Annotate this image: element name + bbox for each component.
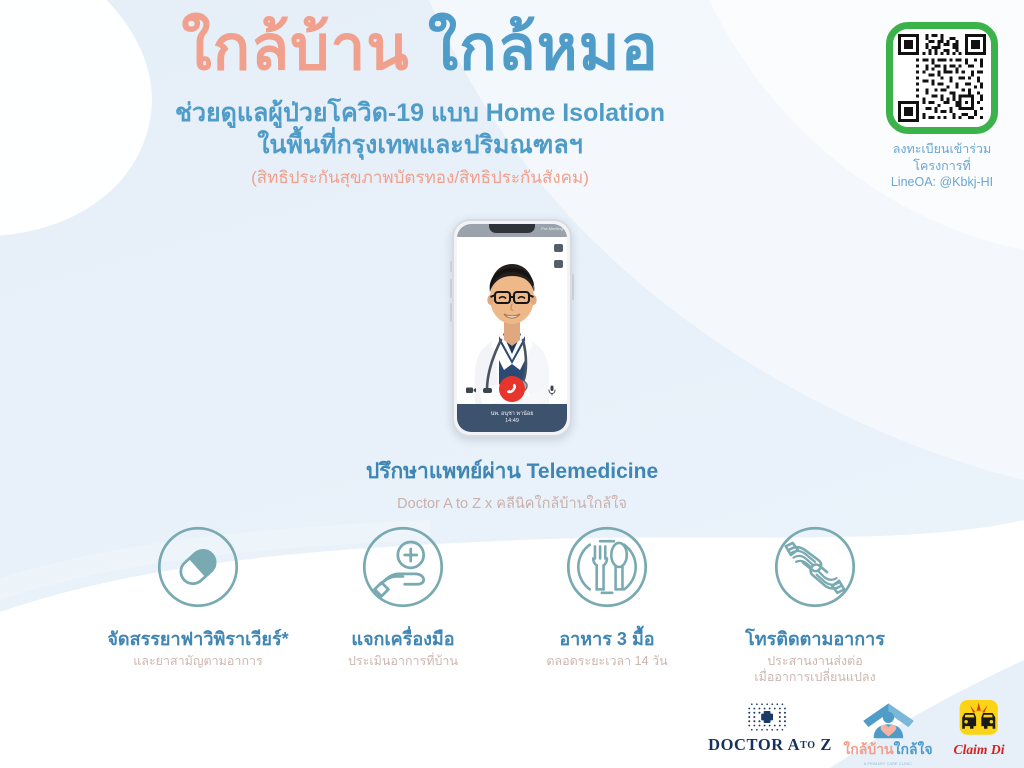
feature-subtitle: ประเมินอาการที่บ้าน — [288, 653, 518, 669]
helping-hands-icon — [772, 524, 858, 610]
flip-camera-icon[interactable] — [554, 260, 563, 268]
fork-spoon-plate-icon — [564, 524, 650, 610]
qr-caption-line-3: LineOA: @Kbkj-HI — [876, 174, 1008, 191]
qr-caption-line-2: โครงการที่ — [876, 158, 1008, 175]
feature-title: อาหาร 3 มื้อ — [492, 629, 722, 650]
feature-item: อาหาร 3 มื้อ ตลอดระยะเวลา 14 วัน — [492, 524, 722, 669]
daz-name-main: DOCTOR A — [708, 735, 800, 754]
title-part-blue: ใกล้หมอ — [428, 14, 659, 83]
phone-mute-button — [450, 261, 452, 272]
klb-name-part1: ใกล้บ้าน — [843, 741, 893, 757]
phone-mockup: Pre-Meeting — [452, 219, 572, 437]
poster-header: ใกล้บ้าน ใกล้หมอ ช่วยดูแลผู้ป่วยโควิด-19… — [0, 16, 840, 191]
klaiban-klaijai-wordmark: ใกล้บ้านใกล้ใจ — [842, 739, 934, 761]
claim-di-name: Claim Di — [954, 742, 1005, 757]
logo-klaiban-klaijai: ใกล้บ้านใกล้ใจ A PRIMARY CARE CLINIC — [842, 700, 934, 766]
klb-name-part2: ใกล้ใจ — [894, 741, 933, 757]
subtitle-line-2: ในพื้นที่กรุงเทพและปริมณฑลฯ — [0, 129, 840, 161]
caller-name: นพ. อนุชา พาน้อย — [491, 411, 534, 418]
doctor-a-to-z-logo — [745, 700, 796, 734]
qr-caption: ลงทะเบียนเข้าร่วม โครงการที่ LineOA: @Kb… — [876, 141, 1008, 191]
qr-registration-block[interactable]: ลงทะเบียนเข้าร่วม โครงการที่ LineOA: @Kb… — [876, 22, 1008, 191]
feature-title: จัดสรรยาฟาวิพิราเวียร์* — [83, 629, 313, 650]
subtitle-line-1: ช่วยดูแลผู้ป่วยโควิด-19 แบบ Home Isolati… — [0, 97, 840, 129]
page-title: ใกล้บ้าน ใกล้หมอ — [0, 16, 840, 83]
logo-claim-di: Claim Di — [940, 700, 1018, 759]
telemedicine-caption: ปรึกษาแพทย์ผ่าน Telemedicine Doctor A to… — [0, 455, 1024, 515]
feature-subtitle: ประสานงานส่งต่อ เมื่ออาการเปลี่ยนแปลง — [700, 653, 930, 686]
phone-notch — [489, 224, 535, 233]
feature-subtitle: ตลอดระยะเวลา 14 วัน — [492, 653, 722, 669]
feature-title: โทรติดตามอาการ — [700, 629, 930, 650]
phone-volume-up-button — [450, 279, 452, 298]
phone-volume-down-button — [450, 303, 452, 322]
feature-title: แจกเครื่องมือ — [288, 629, 518, 650]
call-time: 14:49 — [505, 418, 519, 425]
klaiban-klaijai-tagline: A PRIMARY CARE CLINIC — [842, 762, 934, 766]
qr-code-icon — [898, 34, 986, 122]
feature-subtitle-line-2: เมื่ออาการเปลี่ยนแปลง — [700, 669, 930, 685]
meeting-status-label: Pre-Meeting — [541, 226, 563, 231]
daz-name-end: Z — [820, 735, 832, 754]
klaiban-klaijai-logo — [858, 700, 919, 740]
telemedicine-partners: Doctor A to Z x คลีนิคใกล้บ้านใกล้ใจ — [0, 492, 1024, 515]
end-call-icon[interactable] — [499, 376, 525, 402]
phone-screen: Pre-Meeting — [457, 224, 567, 432]
hand-with-plus-icon — [360, 524, 446, 610]
qr-caption-line-1: ลงทะเบียนเข้าร่วม — [876, 141, 1008, 158]
partner-logos: DOCTOR ATO Z ใกล้บ้านใกล้ใจ A PRIMARY CA… — [690, 700, 1020, 768]
feature-item: แจกเครื่องมือ ประเมินอาการที่บ้าน — [288, 524, 518, 669]
daz-name-small: TO — [800, 740, 815, 751]
feature-subtitle-line-1: ประสานงานส่งต่อ — [700, 653, 930, 669]
logo-doctor-a-to-z: DOCTOR ATO Z — [695, 700, 845, 755]
features-row: จัดสรรยาฟาวิพิราเวียร์* และยาสามัญตามอาก… — [0, 524, 1024, 684]
call-info-bar: นพ. อนุชา พาน้อย 14:49 — [457, 404, 567, 432]
qr-frame[interactable] — [886, 22, 998, 134]
capsule-pill-icon — [155, 524, 241, 610]
feature-item: จัดสรรยาฟาวิพิราเวียร์* และยาสามัญตามอาก… — [83, 524, 313, 669]
poster-root: ใกล้บ้าน ใกล้หมอ ช่วยดูแลผู้ป่วยโควิด-19… — [0, 0, 1024, 768]
chat-icon[interactable] — [554, 244, 563, 252]
claim-di-wordmark: Claim Di — [940, 741, 1018, 759]
microphone-icon[interactable] — [546, 384, 558, 396]
camera-icon[interactable] — [465, 384, 477, 396]
feature-item: โทรติดตามอาการ ประสานงานส่งต่อ เมื่ออากา… — [700, 524, 930, 686]
phone-power-button — [572, 274, 574, 300]
subtitle-line-3: (สิทธิประกันสุขภาพบัตรทอง/สิทธิประกันสัง… — [0, 164, 840, 191]
claim-di-logo — [957, 700, 1000, 740]
doctor-a-to-z-wordmark: DOCTOR ATO Z — [695, 735, 845, 755]
title-part-coral: ใกล้บ้าน — [181, 14, 409, 83]
feature-subtitle: และยาสามัญตามอาการ — [83, 653, 313, 669]
telemedicine-heading: ปรึกษาแพทย์ผ่าน Telemedicine — [0, 455, 1024, 488]
